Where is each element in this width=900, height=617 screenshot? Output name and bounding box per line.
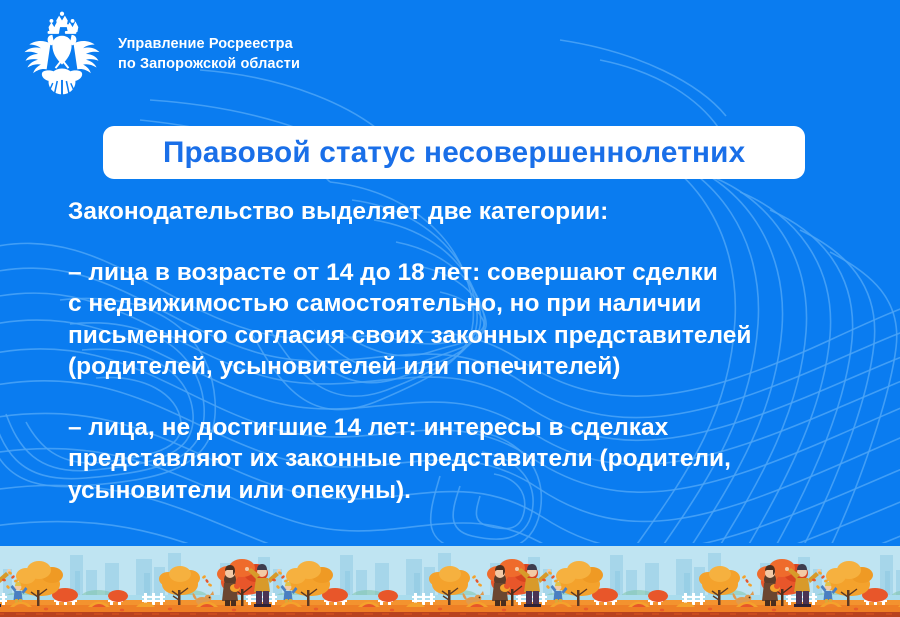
- organization-name: Управление Росреестра по Запорожской обл…: [118, 35, 300, 74]
- body-copy: Законодательство выделяет две категории:…: [68, 196, 868, 506]
- item-2-line-1: – лица, не достигшие 14 лет: интересы в …: [68, 412, 868, 444]
- item-1-line-2: с недвижимостью самостоятельно, но при н…: [68, 288, 868, 320]
- paragraph-gap-1: [68, 228, 868, 257]
- item-2-line-2: представляют их законные представители (…: [68, 443, 868, 475]
- intro-line-1: Законодательство выделяет две категории:: [68, 196, 868, 228]
- autumn-park-illustration: [0, 543, 900, 617]
- item-2-line-3: усыновители или опекуны).: [68, 475, 868, 507]
- header: Управление Росреестра по Запорожской обл…: [0, 0, 900, 110]
- intro-paragraph: Законодательство выделяет две категории:: [68, 196, 868, 228]
- item-1-line-3: письменного согласия своих законных пред…: [68, 320, 868, 352]
- rosreestr-eagle-emblem-icon: [14, 7, 110, 103]
- item-1-paragraph: – лица в возрасте от 14 до 18 лет: совер…: [68, 257, 868, 383]
- item-2-paragraph: – лица, не достигшие 14 лет: интересы в …: [68, 412, 868, 507]
- item-1-line-1: – лица в возрасте от 14 до 18 лет: совер…: [68, 257, 868, 289]
- page-title: Правовой статус несовершеннолетних: [163, 136, 745, 170]
- title-banner: Правовой статус несовершеннолетних: [103, 126, 805, 179]
- paragraph-gap-2: [68, 383, 868, 412]
- slide-canvas: Управление Росреестра по Запорожской обл…: [0, 0, 900, 617]
- item-1-line-4: (родителей, усыновителей или попечителей…: [68, 351, 868, 383]
